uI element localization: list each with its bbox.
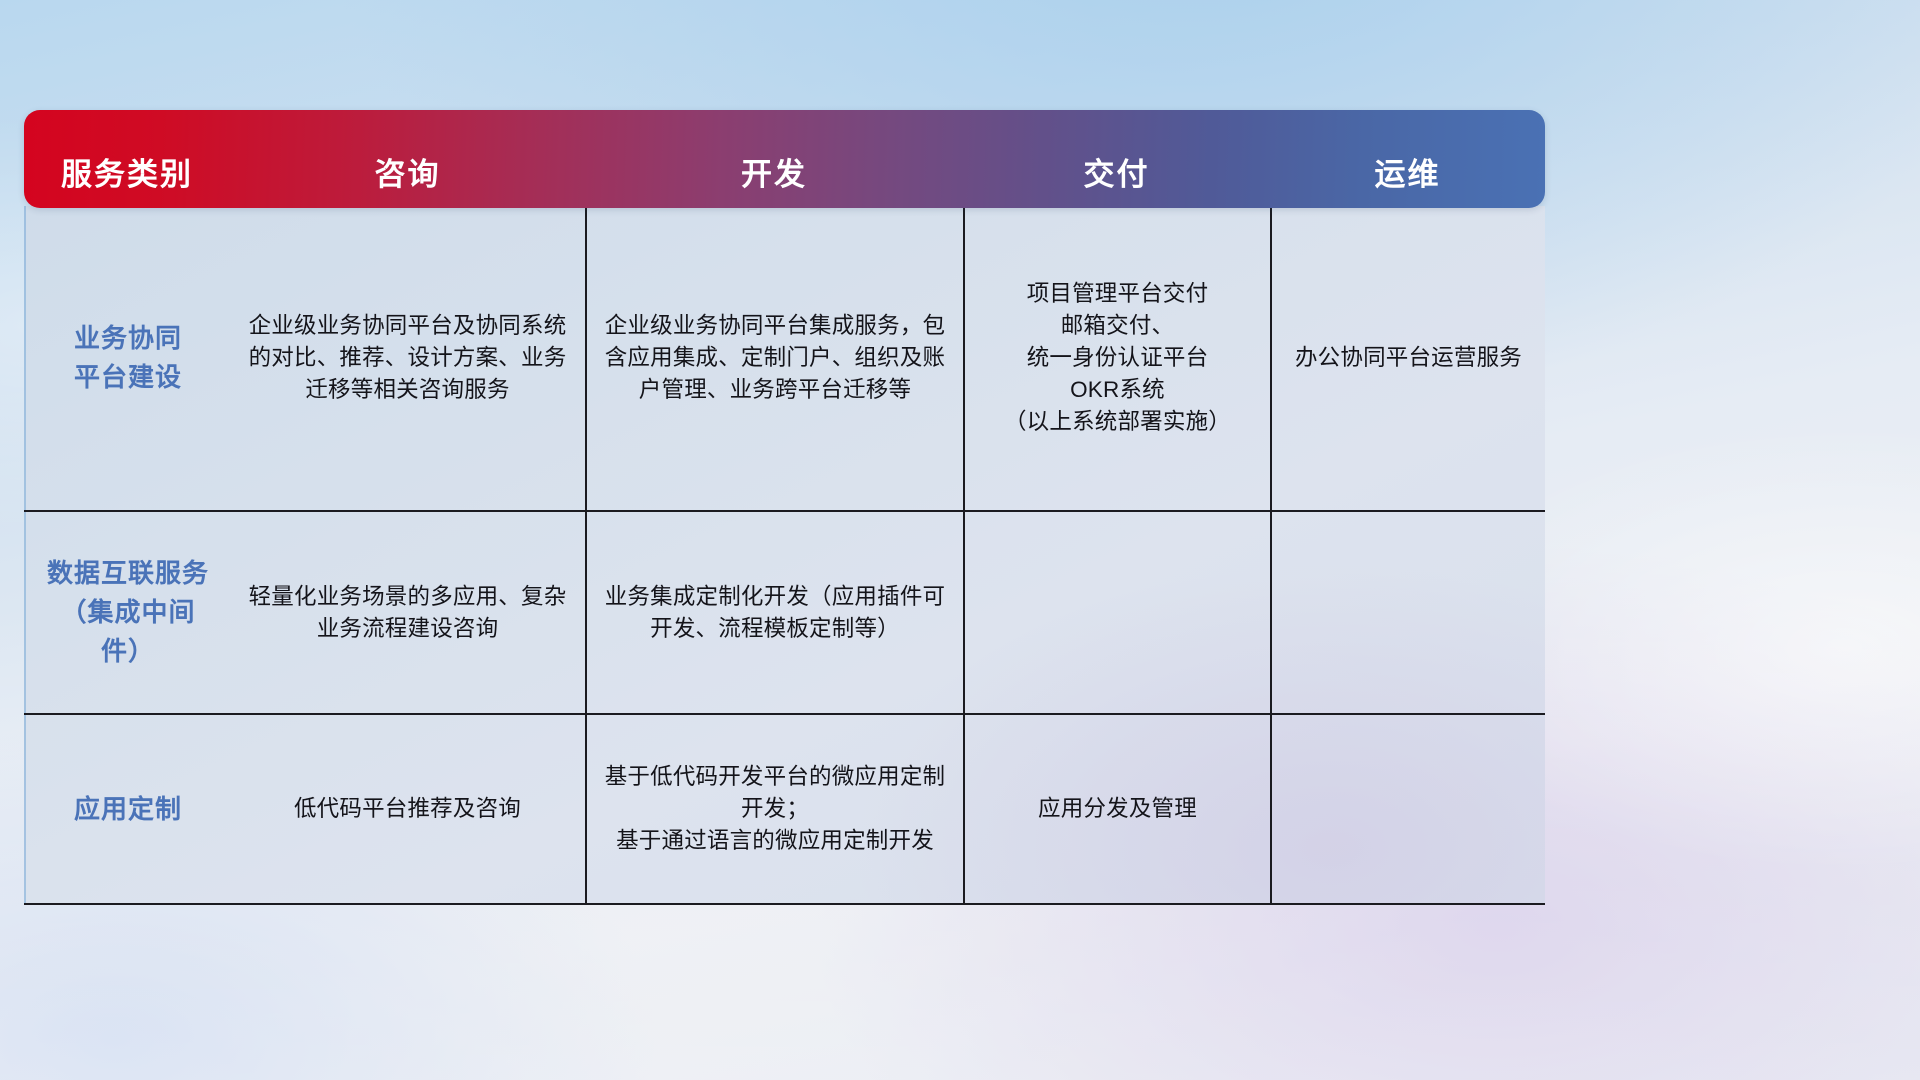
table-row: 应用定制 低代码平台推荐及咨询 基于低代码开发平台的微应用定制开发； 基于通过语… bbox=[24, 715, 1545, 905]
header-label: 运维 bbox=[1375, 158, 1441, 192]
cell-operations bbox=[1270, 715, 1545, 903]
cell-consulting: 企业级业务协同平台及协同系统的对比、推荐、设计方案、业务迁移等相关咨询服务 bbox=[230, 206, 585, 510]
cell-text: 项目管理平台交付 邮箱交付、 统一身份认证平台 OKR系统 （以上系统部署实施） bbox=[1004, 278, 1231, 438]
header-cell-delivery: 交付 bbox=[963, 110, 1270, 208]
service-category-table: 服务类别 咨询 开发 交付 运维 业务协同 平台建设 企业级业务协同平台及协同系… bbox=[24, 110, 1545, 905]
cell-development: 基于低代码开发平台的微应用定制开发； 基于通过语言的微应用定制开发 bbox=[585, 715, 963, 903]
row-label: 应用定制 bbox=[24, 715, 230, 903]
header-label: 服务类别 bbox=[61, 158, 193, 192]
table-body: 业务协同 平台建设 企业级业务协同平台及协同系统的对比、推荐、设计方案、业务迁移… bbox=[24, 206, 1545, 905]
cell-development: 企业级业务协同平台集成服务，包含应用集成、定制门户、组织及账户管理、业务跨平台迁… bbox=[585, 206, 963, 510]
cell-text: 业务集成定制化开发（应用插件可开发、流程模板定制等） bbox=[601, 581, 949, 645]
row-label: 业务协同 平台建设 bbox=[24, 206, 230, 510]
cell-development: 业务集成定制化开发（应用插件可开发、流程模板定制等） bbox=[585, 512, 963, 713]
header-label: 交付 bbox=[1084, 158, 1150, 192]
cell-delivery: 应用分发及管理 bbox=[963, 715, 1270, 903]
header-cell-operations: 运维 bbox=[1270, 110, 1545, 208]
cell-text: 办公协同平台运营服务 bbox=[1295, 342, 1522, 374]
cell-text: 应用分发及管理 bbox=[1038, 793, 1197, 825]
cell-text: 企业级业务协同平台及协同系统的对比、推荐、设计方案、业务迁移等相关咨询服务 bbox=[244, 310, 571, 406]
cell-operations: 办公协同平台运营服务 bbox=[1270, 206, 1545, 510]
row-label-text: 业务协同 平台建设 bbox=[74, 319, 182, 397]
row-label-text: 数据互联服务 （集成中间件） bbox=[40, 554, 216, 671]
cell-text: 企业级业务协同平台集成服务，包含应用集成、定制门户、组织及账户管理、业务跨平台迁… bbox=[601, 310, 949, 406]
row-label-text: 应用定制 bbox=[74, 790, 182, 829]
cell-delivery: 项目管理平台交付 邮箱交付、 统一身份认证平台 OKR系统 （以上系统部署实施） bbox=[963, 206, 1270, 510]
header-cell-consulting: 咨询 bbox=[230, 110, 585, 208]
header-cell-service-category: 服务类别 bbox=[24, 110, 230, 208]
table-row: 数据互联服务 （集成中间件） 轻量化业务场景的多应用、复杂业务流程建设咨询 业务… bbox=[24, 512, 1545, 715]
table-header-row: 服务类别 咨询 开发 交付 运维 bbox=[24, 110, 1545, 208]
cell-consulting: 低代码平台推荐及咨询 bbox=[230, 715, 585, 903]
cell-consulting: 轻量化业务场景的多应用、复杂业务流程建设咨询 bbox=[230, 512, 585, 713]
header-cell-development: 开发 bbox=[585, 110, 963, 208]
row-label: 数据互联服务 （集成中间件） bbox=[24, 512, 230, 713]
cell-text: 基于低代码开发平台的微应用定制开发； 基于通过语言的微应用定制开发 bbox=[601, 761, 949, 857]
cell-text: 轻量化业务场景的多应用、复杂业务流程建设咨询 bbox=[244, 581, 571, 645]
cell-delivery bbox=[963, 512, 1270, 713]
header-label: 开发 bbox=[741, 158, 807, 192]
header-label: 咨询 bbox=[375, 158, 441, 192]
cell-operations bbox=[1270, 512, 1545, 713]
cell-text: 低代码平台推荐及咨询 bbox=[294, 793, 521, 825]
table-row: 业务协同 平台建设 企业级业务协同平台及协同系统的对比、推荐、设计方案、业务迁移… bbox=[24, 206, 1545, 512]
